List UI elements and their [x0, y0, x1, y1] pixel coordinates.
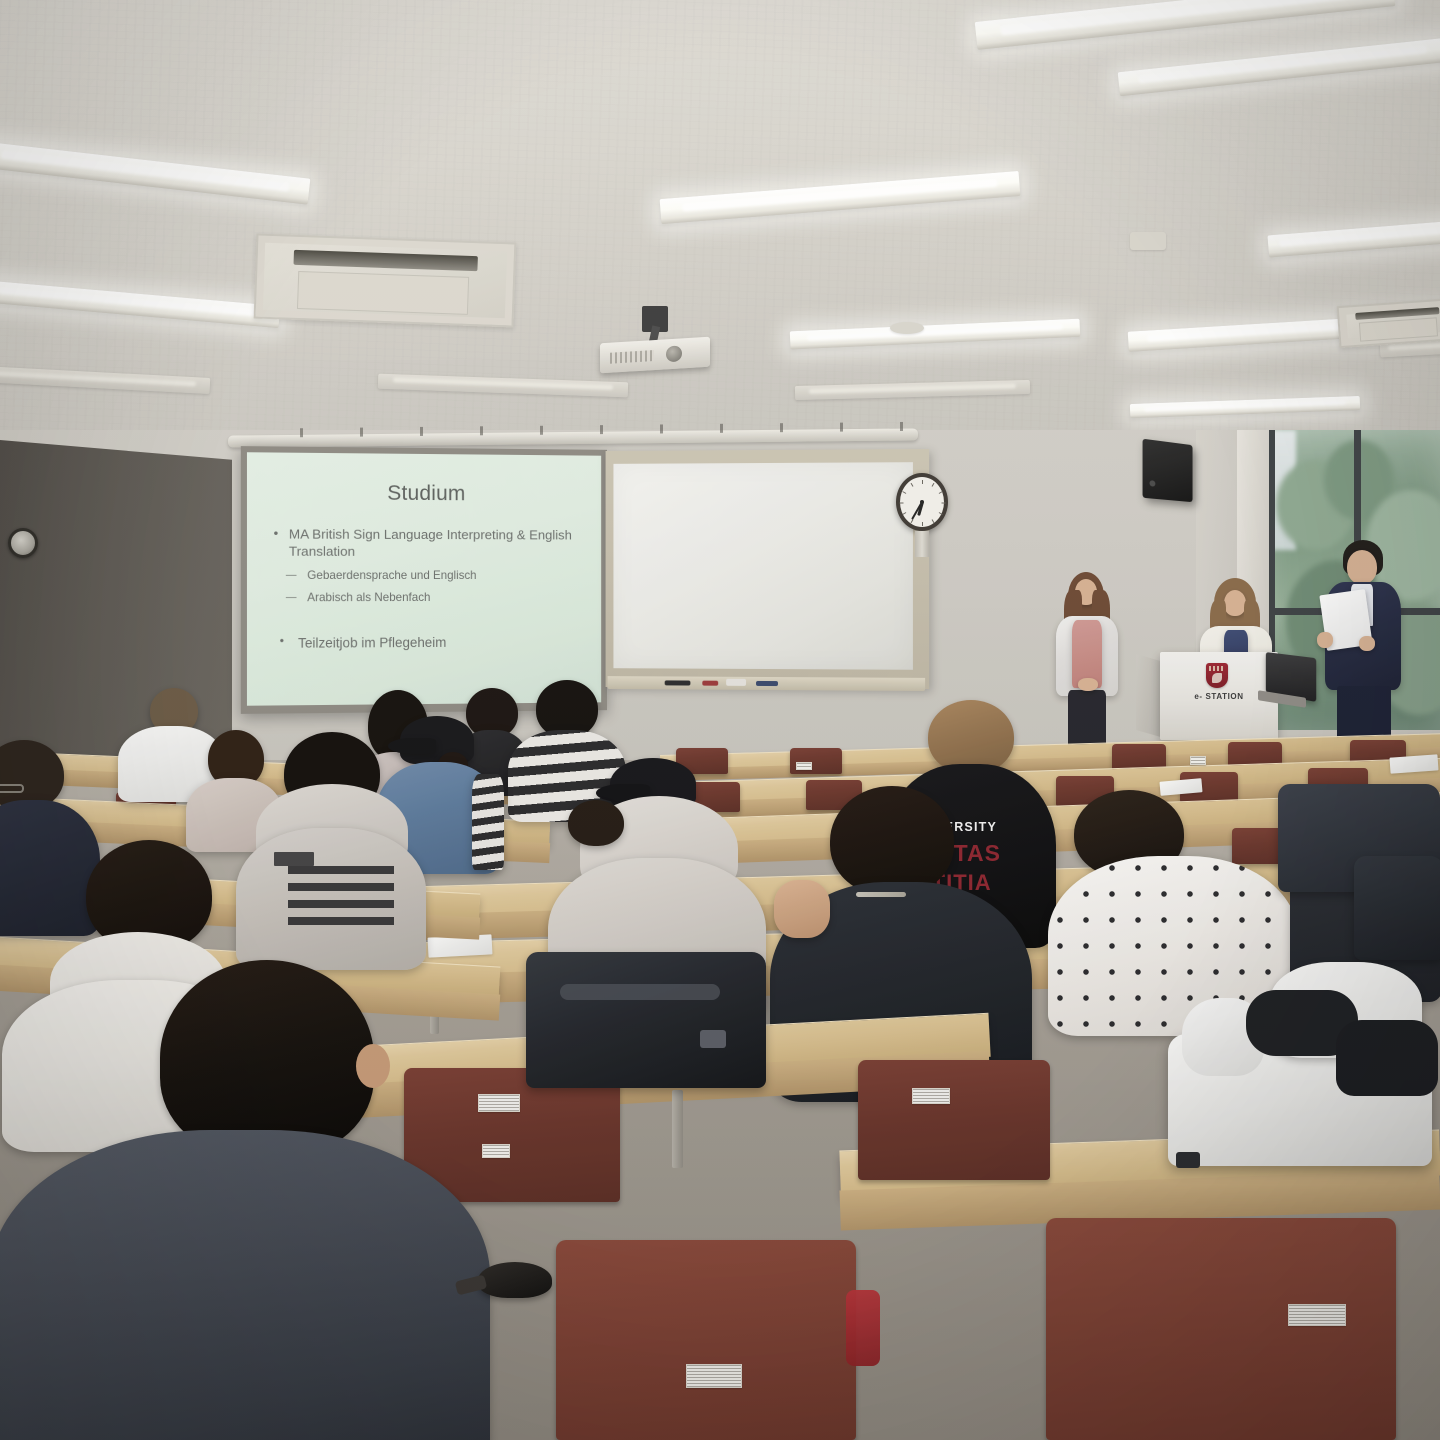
slide-body: MA British Sign Language Interpreting & …: [272, 525, 583, 651]
lecture-hall-photo: Studium MA British Sign Language Interpr…: [0, 0, 1440, 1440]
black-backpack: [526, 952, 766, 1088]
whiteboard: [606, 449, 930, 689]
whiteboard-marker-tray: [608, 676, 926, 691]
bag-clip-icon: [1176, 1152, 1200, 1168]
projected-slide: Studium MA British Sign Language Interpr…: [247, 452, 601, 705]
chair: [790, 748, 842, 774]
presenter-right: [1315, 540, 1409, 748]
face: [1347, 550, 1377, 584]
hand: [1317, 632, 1333, 648]
slide-subbullet-1: Gebaerdensprache und Englisch: [272, 569, 583, 583]
hand: [1359, 636, 1375, 651]
striped-sleeve: [472, 774, 504, 870]
inventory-tag: [1190, 756, 1206, 765]
hand: [774, 880, 830, 938]
wall-clock: [896, 473, 948, 531]
ceiling-projector: [600, 318, 710, 366]
inventory-tag: [1288, 1304, 1346, 1326]
wall-speaker: [1143, 439, 1193, 502]
chair: [556, 1240, 856, 1440]
eyeglasses-on-desk: [478, 1262, 552, 1298]
slide-title: Studium: [247, 481, 601, 507]
red-marker-icon: [702, 681, 718, 686]
hoodie-logo-text: [274, 852, 314, 866]
projector-vent: [610, 350, 654, 364]
clock-center-pin: [920, 500, 924, 504]
chair: [1046, 1218, 1396, 1440]
bag-dark-panel: [1336, 1020, 1438, 1096]
white-black-bag: [1158, 962, 1440, 1176]
backpack-strap: [560, 984, 720, 1000]
head: [568, 800, 624, 846]
hands: [1078, 678, 1098, 691]
air-conditioner-vent: [254, 233, 517, 327]
head: [830, 786, 954, 896]
air-conditioner-vent: [1337, 298, 1440, 348]
presenter-left: [1050, 572, 1128, 748]
red-object: [846, 1290, 880, 1366]
small-wall-clock: [8, 528, 38, 558]
trousers: [1068, 690, 1106, 748]
handout-paper: [1390, 754, 1439, 773]
head: [928, 700, 1014, 774]
audience-member: [560, 800, 640, 880]
inventory-tag: [912, 1088, 950, 1104]
slide-bullet-1: MA British Sign Language Interpreting & …: [272, 525, 583, 561]
chair: [858, 1060, 1050, 1180]
projector-lens: [666, 345, 682, 362]
audience-member: [236, 732, 426, 962]
dark-bag: [1354, 856, 1440, 960]
black-marker-icon: [665, 680, 691, 685]
backpack-buckle-icon: [700, 1030, 726, 1048]
ceiling-smoke-detector: [1130, 232, 1166, 250]
hoodie-stripe-graphic: [288, 866, 394, 928]
inventory-tag: [796, 762, 812, 770]
ear: [356, 1044, 390, 1088]
face: [1224, 590, 1246, 616]
gray-suit-jacket: [0, 1130, 490, 1440]
whiteboard-surface: [613, 462, 912, 670]
slide-subbullet-2: Arabisch als Nebenfach: [272, 591, 583, 606]
ceiling-speaker: [890, 322, 924, 334]
blue-marker-icon: [756, 681, 778, 686]
desk-leg: [672, 1090, 683, 1168]
wall-column: [915, 531, 929, 557]
glasses-icon: [0, 784, 24, 793]
inventory-tag: [478, 1094, 520, 1112]
eraser-icon: [726, 679, 746, 686]
foreground-attendee-suit: [10, 960, 480, 1440]
head: [160, 960, 374, 1156]
university-crest-icon: [1206, 663, 1228, 688]
inventory-tag: [482, 1144, 510, 1158]
slide-bullet-2: Teilzeitjob im Pflegeheim: [272, 634, 583, 651]
necklace-icon: [856, 892, 906, 897]
inventory-tag: [686, 1364, 742, 1388]
projection-screen: Studium MA British Sign Language Interpr…: [241, 446, 607, 714]
